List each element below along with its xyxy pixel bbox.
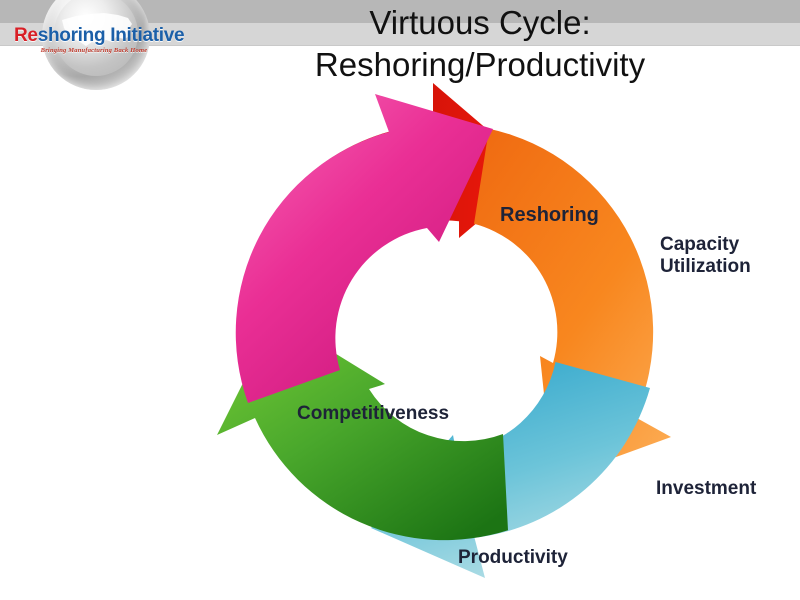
logo-tagline: Bringing Manufacturing Back Home	[14, 48, 174, 55]
cycle-svg	[160, 70, 730, 590]
cycle-label-reshoring: Reshoring	[500, 204, 599, 228]
logo: Reshoring Initiative Bringing Manufactur…	[14, 0, 174, 94]
logo-text-block: Reshoring Initiative Bringing Manufactur…	[14, 26, 174, 55]
logo-wordmark-prefix: Re	[14, 25, 38, 46]
logo-wordmark: Reshoring Initiative	[14, 26, 174, 45]
slide-title: Virtuous Cycle: Reshoring/Productivity	[180, 2, 780, 85]
virtuous-cycle-diagram: Reshoring CapacityUtilization Investment…	[160, 70, 730, 590]
slide-title-line-1: Virtuous Cycle:	[180, 2, 780, 44]
cycle-label-capacity-utilization: CapacityUtilization	[660, 234, 751, 279]
slide-canvas: Reshoring Initiative Bringing Manufactur…	[0, 0, 800, 600]
cycle-label-investment: Investment	[656, 478, 756, 500]
cycle-label-productivity: Productivity	[458, 547, 568, 569]
logo-wordmark-rest: shoring Initiative	[38, 25, 185, 46]
slide-title-line-2: Reshoring/Productivity	[180, 44, 780, 86]
cycle-label-competitiveness: Competitiveness	[297, 403, 449, 425]
